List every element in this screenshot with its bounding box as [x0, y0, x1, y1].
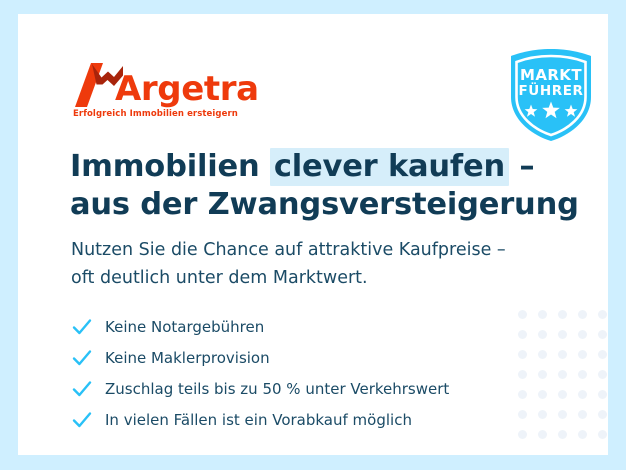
list-item: In vielen Fällen ist ein Vorabkauf mögli… — [71, 404, 541, 435]
decorative-dot — [598, 310, 607, 319]
decorative-dot — [578, 370, 587, 379]
decorative-dot — [578, 350, 587, 359]
logo-wordmark: Argetra — [115, 72, 259, 106]
check-icon — [71, 316, 93, 338]
headline-line-1: Immobilien clever kaufen – — [70, 148, 540, 186]
decorative-dot — [558, 330, 567, 339]
headline-pre: Immobilien — [70, 149, 270, 184]
list-item-label: In vielen Fällen ist ein Vorabkauf mögli… — [105, 410, 412, 430]
decorative-dot — [598, 330, 607, 339]
decorative-dot — [558, 350, 567, 359]
list-item-label: Keine Maklerprovision — [105, 348, 270, 368]
list-item: Zuschlag teils bis zu 50 % unter Verkehr… — [71, 373, 541, 404]
logo-tagline: Erfolgreich Immobilien ersteigern — [73, 109, 238, 119]
decorative-dot — [558, 370, 567, 379]
argetra-logo[interactable]: Argetra Erfolgreich Immobilien ersteiger… — [73, 59, 233, 124]
list-item: Keine Maklerprovision — [71, 342, 541, 373]
decorative-dot — [578, 410, 587, 419]
check-icon — [71, 347, 93, 369]
check-icon — [71, 378, 93, 400]
subheading: Nutzen Sie die Chance auf attraktive Kau… — [71, 236, 571, 292]
decorative-dot — [598, 430, 607, 439]
page-title: Immobilien clever kaufen – aus der Zwang… — [70, 148, 540, 224]
decorative-dot — [558, 390, 567, 399]
headline-highlight: clever kaufen — [270, 148, 509, 186]
decorative-dot — [578, 310, 587, 319]
headline-line-2: aus der Zwangsversteigerung — [70, 186, 540, 224]
list-item-label: Keine Notargebühren — [105, 317, 264, 337]
decorative-dot — [558, 430, 567, 439]
decorative-dot — [598, 370, 607, 379]
promo-card: Argetra Erfolgreich Immobilien ersteiger… — [18, 14, 608, 455]
subheading-line-1: Nutzen Sie die Chance auf attraktive Kau… — [71, 236, 571, 264]
decorative-dot — [598, 350, 607, 359]
subheading-line-2: oft deutlich unter dem Marktwert. — [71, 264, 571, 292]
decorative-dot — [558, 410, 567, 419]
check-icon — [71, 409, 93, 431]
shield-icon — [505, 47, 597, 143]
list-item-label: Zuschlag teils bis zu 50 % unter Verkehr… — [105, 379, 449, 399]
headline-post: – — [509, 149, 534, 184]
decorative-dot — [578, 430, 587, 439]
decorative-dot — [558, 310, 567, 319]
decorative-dot — [578, 390, 587, 399]
promo-banner: Argetra Erfolgreich Immobilien ersteiger… — [0, 0, 626, 470]
market-leader-badge: MARKT FÜHRER — [505, 47, 597, 143]
list-item: Keine Notargebühren — [71, 311, 541, 342]
benefit-list: Keine NotargebührenKeine Maklerprovision… — [71, 311, 541, 435]
decorative-dot — [598, 390, 607, 399]
decorative-dot — [598, 410, 607, 419]
decorative-dot — [578, 330, 587, 339]
